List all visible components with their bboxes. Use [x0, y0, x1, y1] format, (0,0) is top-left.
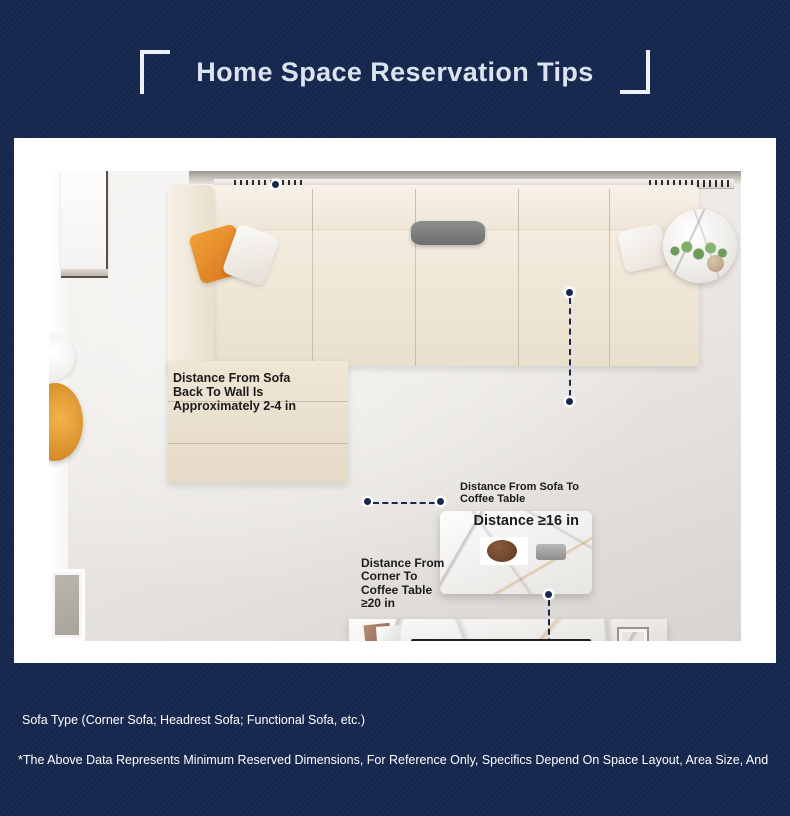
corner-bracket-left-icon	[140, 50, 170, 94]
marble-tv-stand	[349, 619, 667, 641]
annotation-corner-to-coffee-table: Distance From Corner To Coffee Table ≥20…	[361, 557, 444, 611]
page-title: Home Space Reservation Tips	[196, 57, 593, 88]
page-root: Home Space Reservation Tips	[0, 0, 790, 816]
room-floorplan-image: Distance From Sofa Back To Wall Is Appro…	[49, 171, 741, 641]
corner-bracket-right-icon	[620, 50, 650, 94]
marker-sofa-corner	[362, 496, 373, 507]
coffee-table-object	[536, 544, 566, 560]
leader-corner-to-coffee-table	[373, 502, 435, 504]
tv-stand-picture-frame	[617, 627, 649, 641]
marker-coffee-table-top	[564, 396, 575, 407]
door-sill	[61, 269, 108, 278]
green-plant	[667, 241, 733, 261]
leader-sofa-to-coffee-table	[569, 298, 571, 396]
title-row: Home Space Reservation Tips	[0, 48, 790, 96]
door-panel	[61, 171, 108, 271]
value-sofa-to-coffee-table: Distance ≥16 in	[460, 513, 579, 529]
right-pillow	[617, 223, 669, 273]
side-table-bowl	[707, 255, 724, 272]
leader-coffee-table-to-tv-stand	[548, 600, 550, 641]
annotation-sofa-back-to-wall: Distance From Sofa Back To Wall Is Appro…	[173, 371, 296, 413]
television	[411, 639, 591, 641]
marker-sofa-edge	[564, 287, 575, 298]
footer-disclaimer: *The Above Data Represents Minimum Reser…	[18, 753, 768, 767]
floorplan-card: Distance From Sofa Back To Wall Is Appro…	[14, 138, 776, 663]
footer-sofa-type: Sofa Type (Corner Sofa; Headrest Sofa; F…	[22, 713, 365, 727]
marker-sofa-back-to-wall	[270, 179, 281, 190]
value-corner-to-coffee-table: ≥20 in	[361, 597, 444, 610]
marker-coffee-table-left	[435, 496, 446, 507]
lower-wall-opening	[49, 569, 85, 641]
coffee-table-bowl	[487, 540, 517, 562]
header: Home Space Reservation Tips	[0, 0, 790, 138]
footer: Sofa Type (Corner Sofa; Headrest Sofa; F…	[0, 663, 790, 816]
annotation-sofa-to-coffee-table: Distance From Sofa To Coffee Table Dista…	[460, 481, 579, 529]
marker-coffee-table-bottom	[543, 589, 554, 600]
round-marble-side-table	[663, 209, 737, 283]
gray-throw	[411, 221, 485, 245]
